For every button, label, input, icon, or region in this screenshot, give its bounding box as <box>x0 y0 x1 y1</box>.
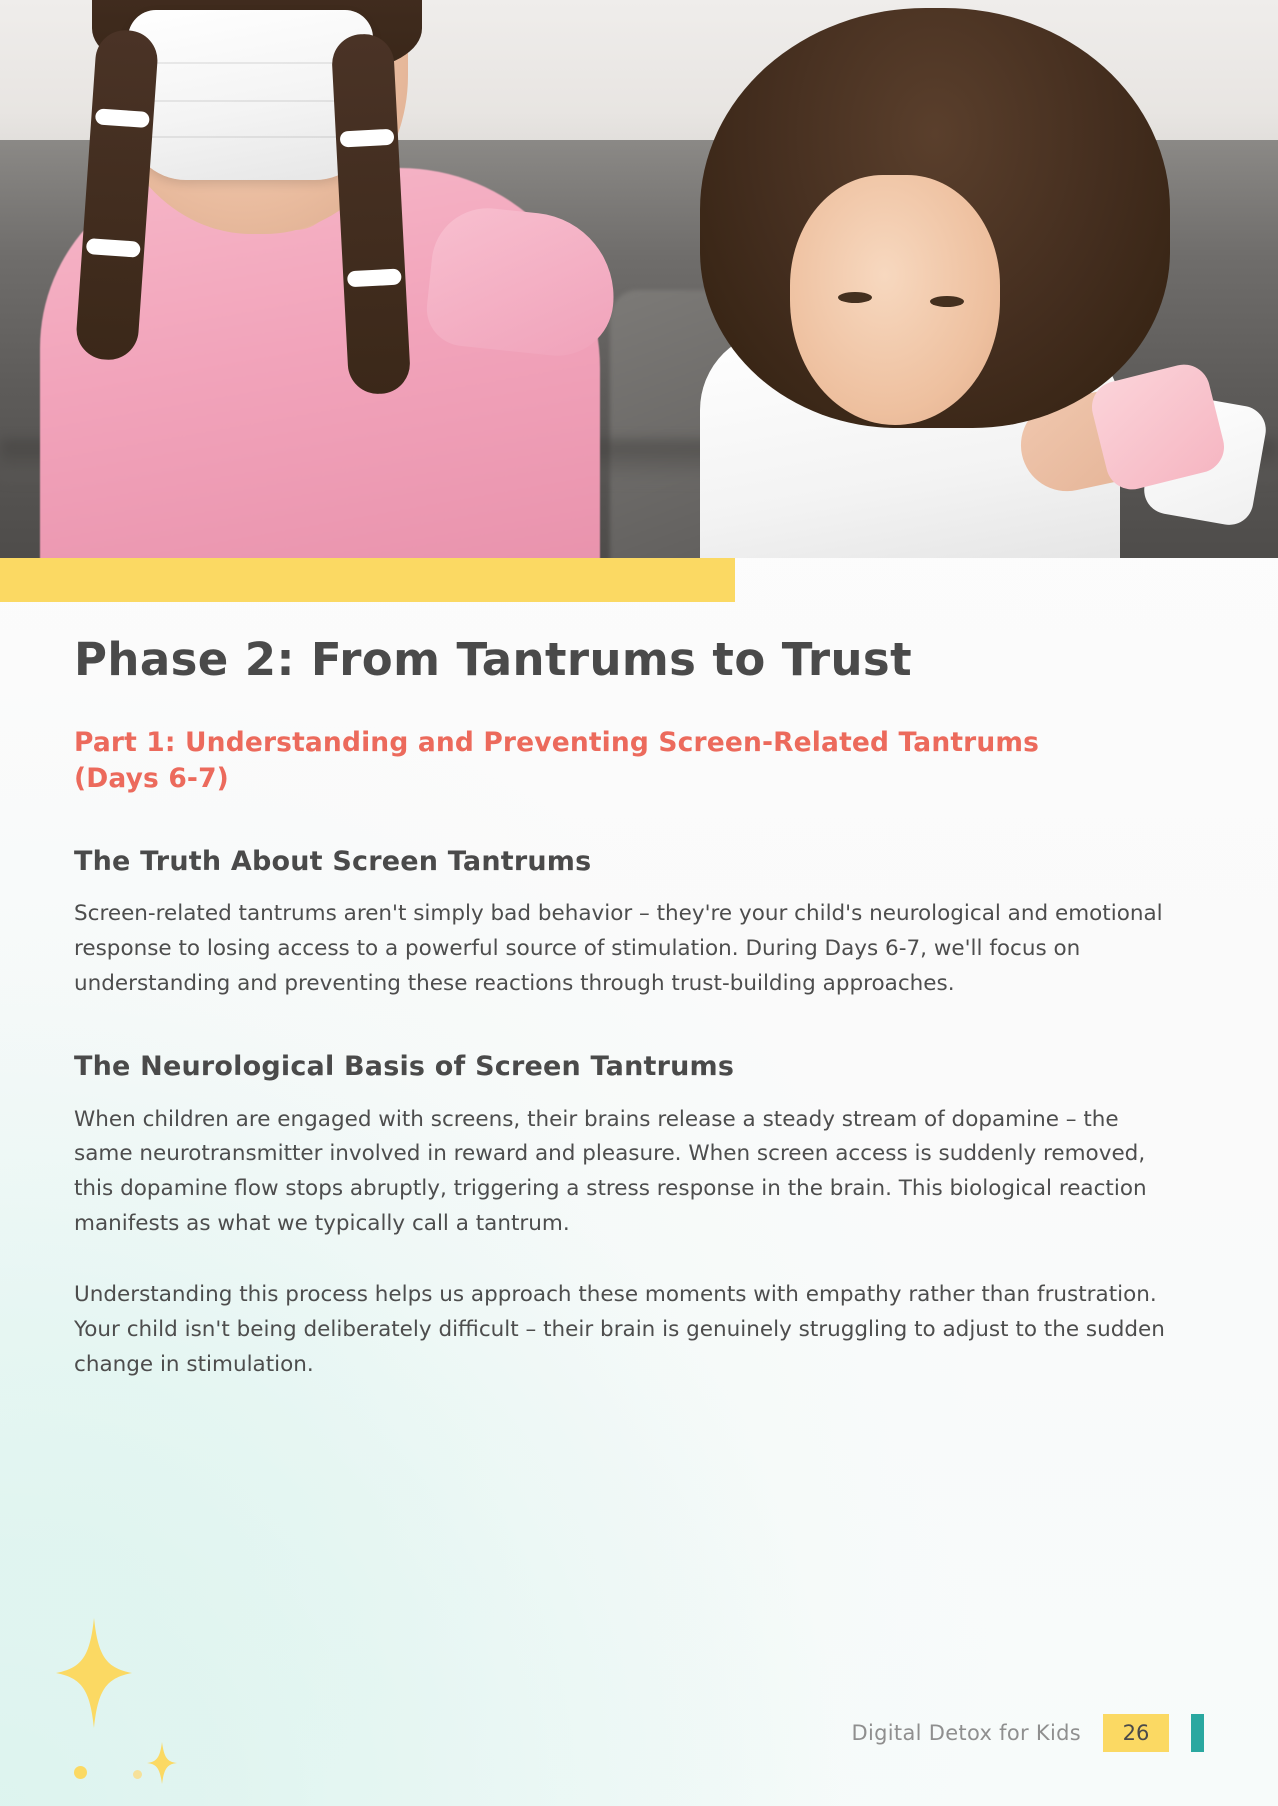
sparkle-dot-small <box>74 1766 87 1779</box>
document-page: Phase 2: From Tantrums to Trust Part 1: … <box>0 0 1278 1806</box>
page-footer: Digital Detox for Kids 26 <box>0 1712 1278 1752</box>
content-area: Phase 2: From Tantrums to Trust Part 1: … <box>74 635 1192 1382</box>
section-heading-2: The Neurological Basis of Screen Tantrum… <box>74 1049 1192 1084</box>
footer-book-title: Digital Detox for Kids <box>852 1721 1081 1745</box>
section-2-paragraph-1: When children are engaged with screens, … <box>74 1103 1169 1242</box>
photo-child-right-eye <box>930 296 964 307</box>
page-subtitle: Part 1: Understanding and Preventing Scr… <box>74 725 1074 795</box>
page-number-badge: 26 <box>1103 1714 1169 1752</box>
photo-child-right-eye <box>838 292 872 303</box>
section-2-paragraph-2: Understanding this process helps us appr… <box>74 1278 1169 1382</box>
accent-bar <box>0 558 735 602</box>
footer-teal-tick <box>1191 1714 1204 1752</box>
section-1-paragraph-1: Screen-related tantrums aren't simply ba… <box>74 897 1169 1001</box>
hero-photo <box>0 0 1278 558</box>
photo-child-right-face <box>790 175 1000 425</box>
section-heading-1: The Truth About Screen Tantrums <box>74 844 1192 879</box>
page-title: Phase 2: From Tantrums to Trust <box>74 635 1192 685</box>
sparkle-dot-tiny <box>133 1770 142 1779</box>
